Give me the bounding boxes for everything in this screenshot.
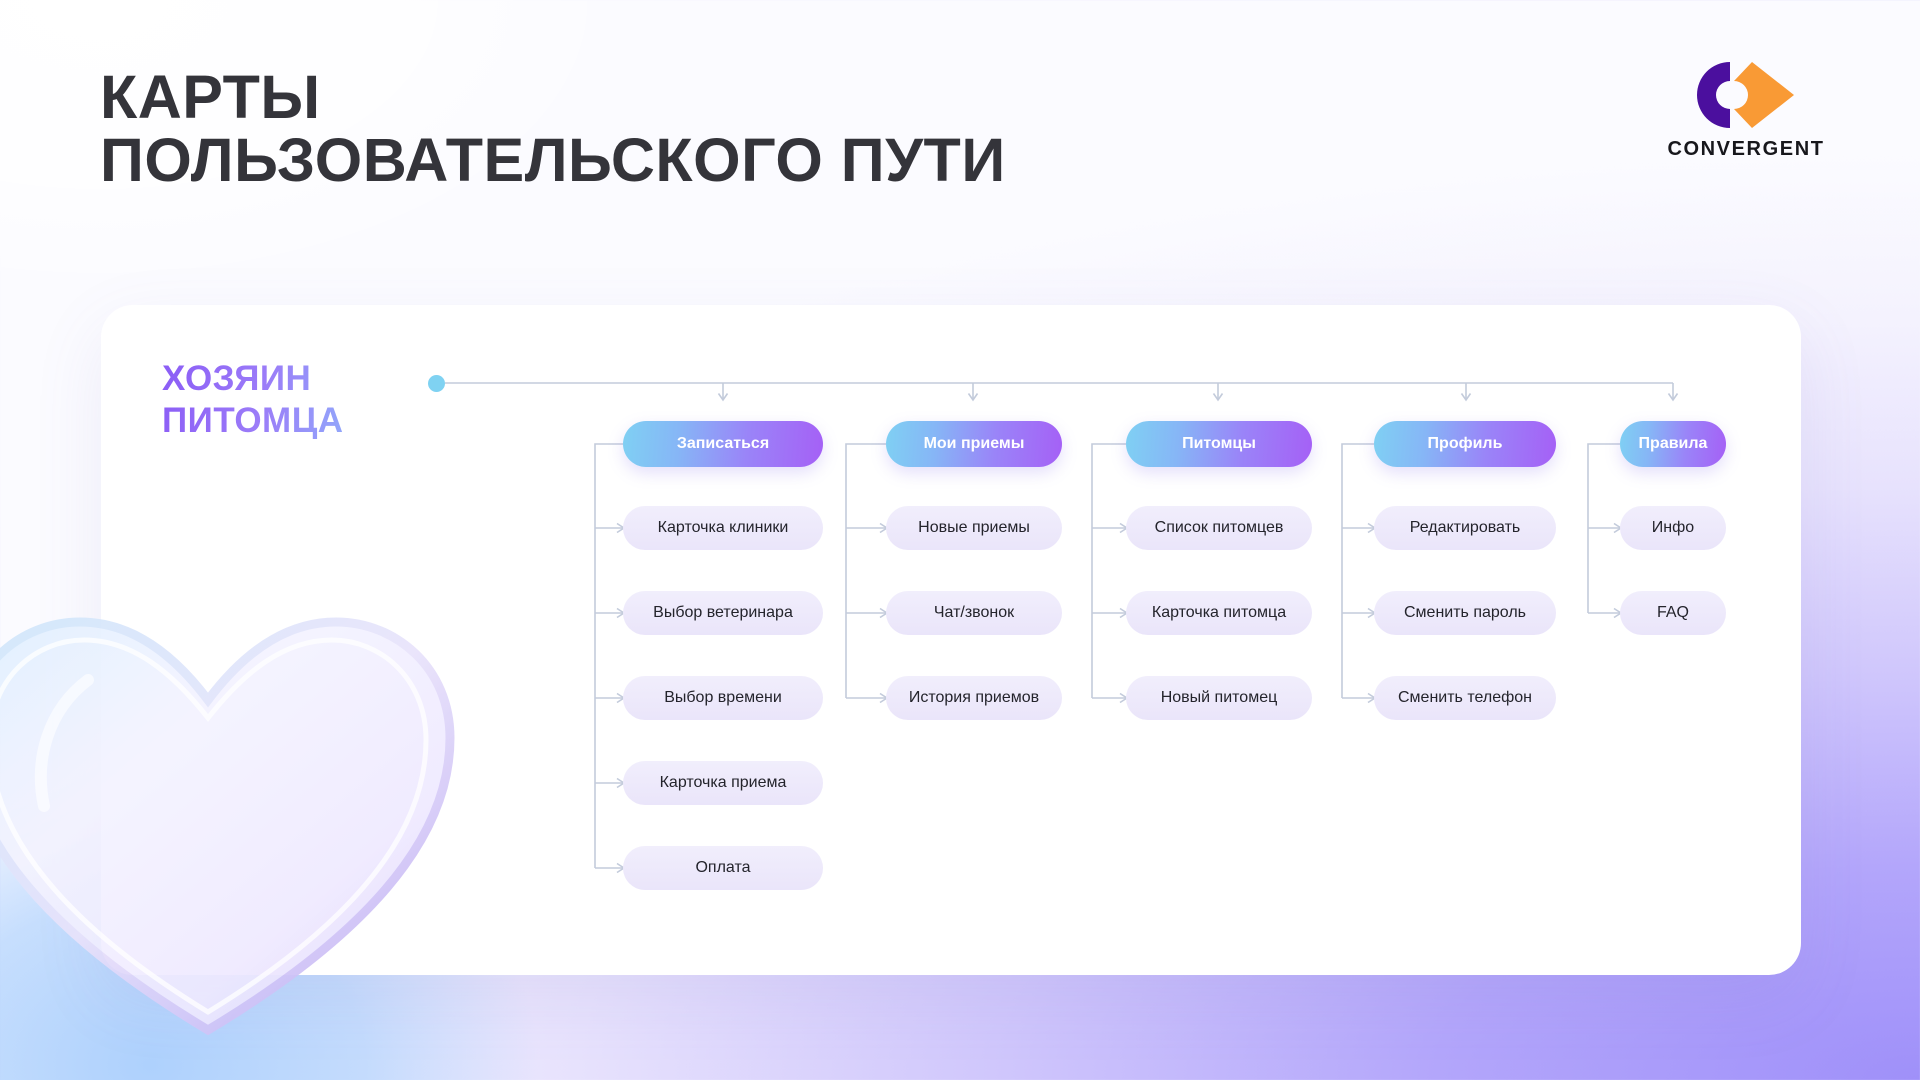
column-header-1[interactable]: Записаться	[623, 421, 823, 467]
node-2-1[interactable]: Новые приемы	[886, 506, 1062, 550]
node-1-3[interactable]: Выбор времени	[623, 676, 823, 720]
brand-logo: CONVERGENT	[1656, 60, 1836, 161]
node-5-1[interactable]: Инфо	[1620, 506, 1726, 550]
node-4-2[interactable]: Сменить пароль	[1374, 591, 1556, 635]
node-4-3[interactable]: Сменить телефон	[1374, 676, 1556, 720]
node-1-1[interactable]: Карточка клиники	[623, 506, 823, 550]
page-title: КАРТЫ ПОЛЬЗОВАТЕЛЬСКОГО ПУТИ	[100, 66, 1006, 193]
logo-wordmark: CONVERGENT	[1656, 138, 1836, 161]
column-header-4[interactable]: Профиль	[1374, 421, 1556, 467]
node-3-2[interactable]: Карточка питомца	[1126, 591, 1312, 635]
node-2-2[interactable]: Чат/звонок	[886, 591, 1062, 635]
node-1-5[interactable]: Оплата	[623, 846, 823, 890]
convergent-logo-icon	[1690, 60, 1802, 130]
node-1-2[interactable]: Выбор ветеринара	[623, 591, 823, 635]
column-header-3[interactable]: Питомцы	[1126, 421, 1312, 467]
root-connector-dot	[428, 375, 445, 392]
node-2-3[interactable]: История приемов	[886, 676, 1062, 720]
root-node-label: ХОЗЯИН ПИТОМЦА	[162, 358, 462, 442]
node-5-2[interactable]: FAQ	[1620, 591, 1726, 635]
column-header-2[interactable]: Мои приемы	[886, 421, 1062, 467]
node-3-1[interactable]: Список питомцев	[1126, 506, 1312, 550]
node-3-3[interactable]: Новый питомец	[1126, 676, 1312, 720]
node-1-4[interactable]: Карточка приема	[623, 761, 823, 805]
column-header-5[interactable]: Правила	[1620, 421, 1726, 467]
node-4-1[interactable]: Редактировать	[1374, 506, 1556, 550]
